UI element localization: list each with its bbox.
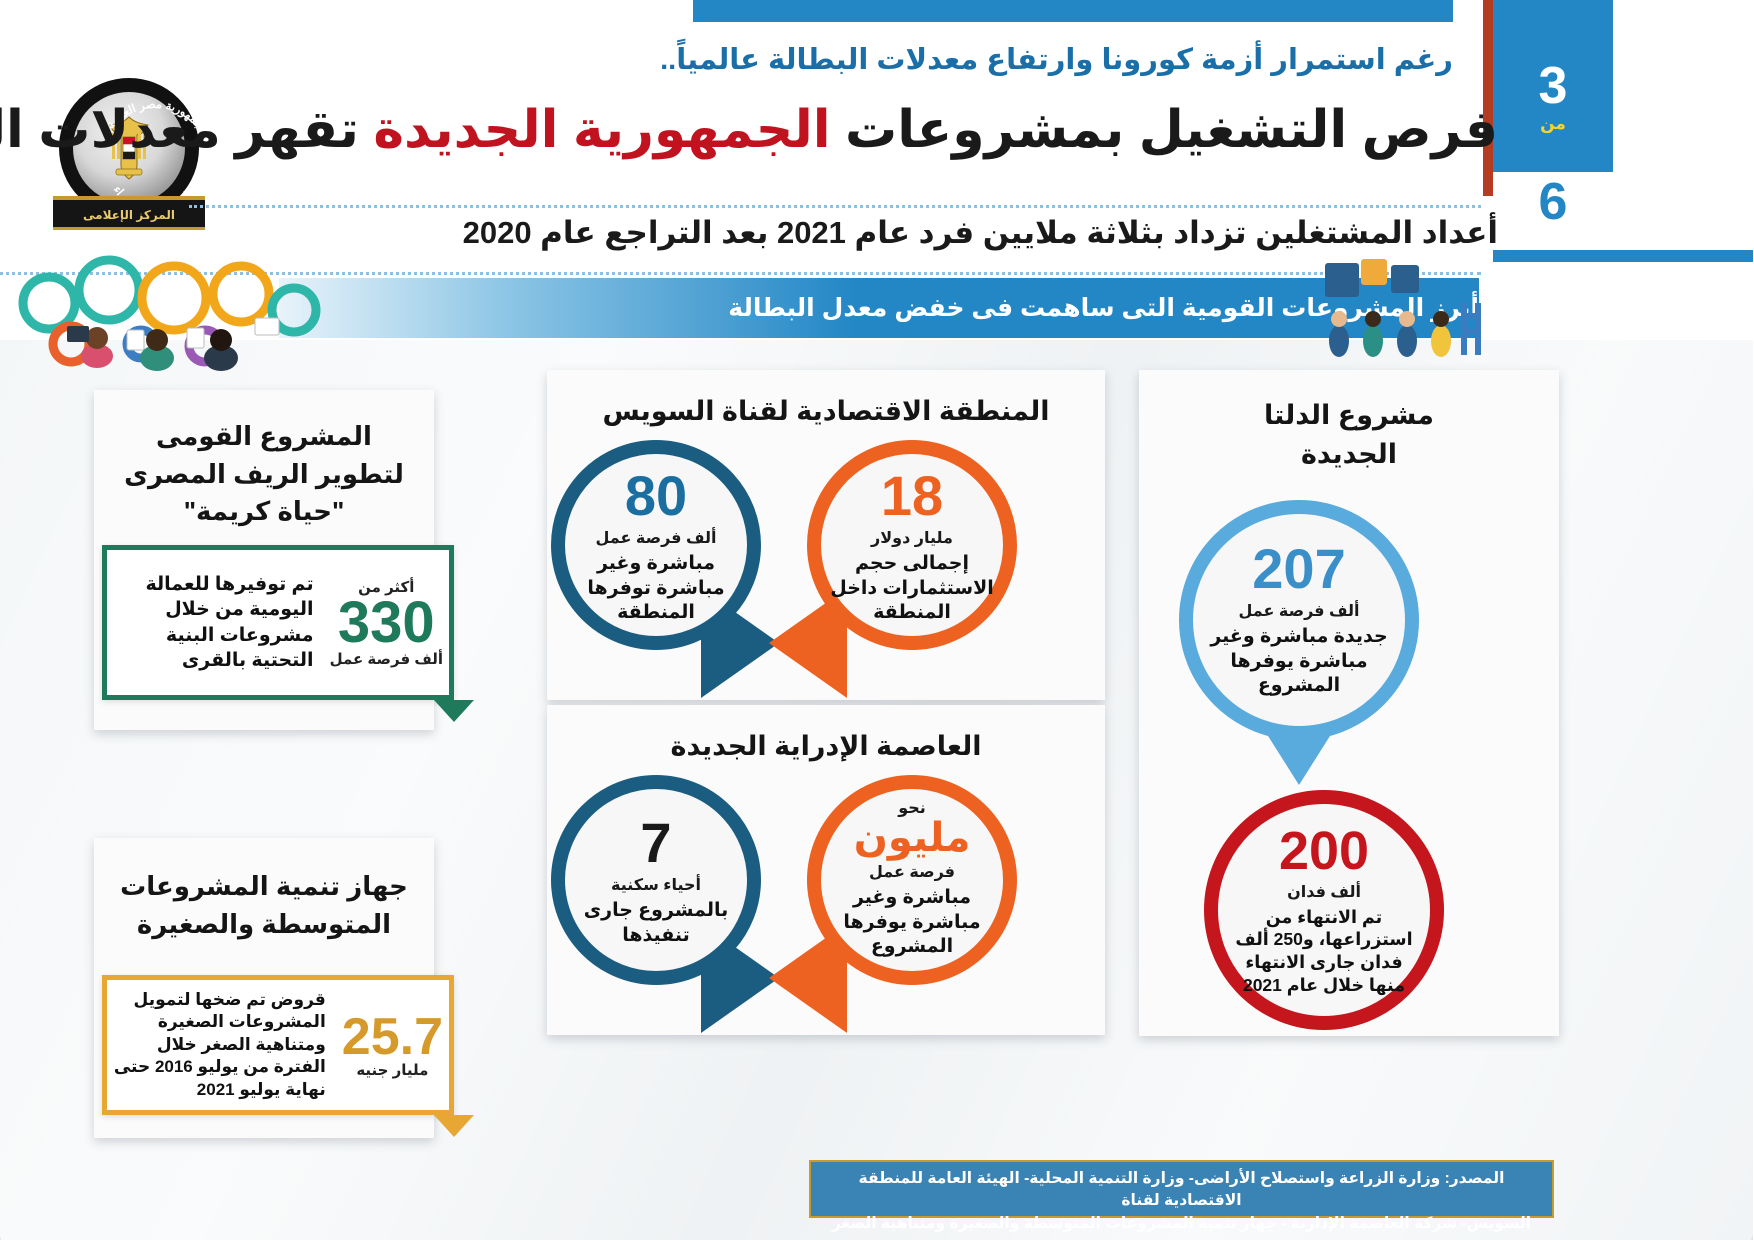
- page-total-number: 6: [1494, 172, 1614, 228]
- stat-description: قروض تم ضخها لتمويل المشروعات الصغيرة وم…: [108, 989, 337, 1101]
- pin-capital-7-districts: 7 أحياء سكنية بالمشروع جارى تنفيذها: [552, 775, 762, 1025]
- pin-note: بالمشروع جارى تنفيذها: [572, 899, 742, 948]
- headline-part-2: تقهر معدلات البطالة: [0, 101, 374, 159]
- pin-value: 80: [626, 468, 688, 524]
- section-banner: أبرز المشروعات القومية التى ساهمت فى خفض…: [280, 278, 1480, 338]
- source-line-2: السويس- شركة العاصمة الإدارية - جهاز تنم…: [822, 1213, 1543, 1235]
- card-title-line-3: "حياة كريمة": [113, 493, 417, 531]
- divider-dotted-1: [190, 205, 1482, 208]
- pin-value: 207: [1253, 541, 1346, 597]
- stat-number-block: أكثر من 330 ألف فرصة عمل: [325, 578, 450, 668]
- pin-unit: ألف فرصة عمل: [1240, 601, 1361, 621]
- pin-delta-207-thousand-jobs: 207 ألف فرصة عمل جديدة مباشرة وغير مباشر…: [1180, 500, 1420, 820]
- pin-content: 80 ألف فرصة عمل مباشرة وغير مباشرة توفره…: [572, 462, 742, 632]
- pin-unit: أحياء سكنية: [612, 875, 702, 895]
- stat-number-block: 25.7 مليار جنيه: [337, 1011, 450, 1079]
- stat-value: 25.7: [343, 1011, 444, 1063]
- pin-note: تم الانتهاء من استزراعها، و250 ألف فدان …: [1229, 906, 1421, 997]
- card-title-line-2: الجديدة: [1162, 435, 1538, 474]
- stat-description: تم توفيرها للعمالة اليومية من خلال مشروع…: [108, 572, 325, 672]
- stat-unit: ألف فرصة عمل: [331, 650, 444, 668]
- top-right-white: [1614, 0, 1754, 250]
- subheadline: أعداد المشتغلين تزداد بثلاثة ملايين فرد …: [284, 215, 1499, 251]
- headline-highlight: الجمهورية الجديدة: [374, 101, 831, 159]
- page-of-label: من: [1494, 114, 1614, 134]
- card-title-line-1: مشروع الدلتا: [1162, 396, 1538, 435]
- page-indicator-total: 6: [1494, 172, 1614, 250]
- pin-note: مباشرة وغير مباشرة توفرها المنطقة: [572, 552, 742, 626]
- pin-content: 7 أحياء سكنية بالمشروع جارى تنفيذها: [572, 797, 742, 967]
- card-title-line-2: لتطوير الريف المصرى: [113, 456, 417, 494]
- pin-value: 18: [882, 468, 944, 524]
- card-msme-title: جهاز تنمية المشروعات المتوسطة والصغيرة: [95, 838, 435, 943]
- infographic-root: 3 من 6: [0, 0, 1754, 1240]
- pin-content: 18 مليار دولار إجمالى حجم الاستثمارات دا…: [828, 462, 998, 632]
- pin-note: جديدة مباشرة وغير مباشرة يوفرها المشروع: [1204, 625, 1396, 699]
- card-title-line-1: جهاز تنمية المشروعات: [109, 868, 421, 906]
- pin-suez-18-billion-usd: 18 مليار دولار إجمالى حجم الاستثمارات دا…: [808, 440, 1018, 690]
- pin-prefix: نحو: [899, 798, 927, 818]
- pin-value: 200: [1280, 824, 1370, 878]
- pin-suez-80-thousand-jobs: 80 ألف فرصة عمل مباشرة وغير مباشرة توفره…: [552, 440, 762, 690]
- card-capital-title: العاصمة الإدراية الجديدة: [548, 705, 1106, 762]
- green-box-tail: [435, 700, 475, 722]
- orange-box-tail: [435, 1115, 475, 1137]
- card-delta-title: مشروع الدلتا الجديدة: [1140, 370, 1560, 474]
- pin-note: مباشرة وغير مباشرة يوفرها المشروع: [828, 886, 998, 960]
- pin-note: إجمالى حجم الاستثمارات داخل المنطقة: [828, 552, 998, 626]
- card-hayah-karima-title: المشروع القومى لتطوير الريف المصرى "حياة…: [95, 390, 435, 531]
- pin-delta-200-thousand-feddan: 200 ألف فدان تم الانتهاء من استزراعها، و…: [1205, 790, 1445, 1040]
- pin-unit: فرصة عمل: [870, 862, 956, 882]
- kicker-text: رغم استمرار أزمة كورونا وارتفاع معدلات ا…: [294, 42, 1454, 77]
- headline-part-1: فرص التشغيل بمشروعات: [832, 101, 1499, 159]
- top-blue-bar: [694, 0, 1454, 22]
- pin-unit: مليار دولار: [872, 528, 954, 548]
- people-puzzle-illustration: [1318, 255, 1488, 360]
- stat-box-25-7-billion-loans: 25.7 مليار جنيه قروض تم ضخها لتمويل المش…: [103, 975, 455, 1115]
- pin-value: مليون: [855, 818, 972, 858]
- card-title-line-1: المشروع القومى: [113, 418, 417, 456]
- top-right-blue-bar: [1494, 250, 1754, 262]
- stat-box-330-thousand-jobs: أكثر من 330 ألف فرصة عمل تم توفيرها للعم…: [103, 545, 455, 700]
- logo-banner-text: المركز الإعلامى: [54, 196, 206, 230]
- pin-capital-one-million-jobs: نحو مليون فرصة عمل مباشرة وغير مباشرة يو…: [808, 775, 1018, 1025]
- page-current-number: 3: [1494, 0, 1614, 112]
- pin-value: 7: [641, 815, 672, 871]
- pin-content: 207 ألف فرصة عمل جديدة مباشرة وغير مباشر…: [1204, 526, 1396, 714]
- pin-content: 200 ألف فدان تم الانتهاء من استزراعها، و…: [1229, 810, 1421, 1010]
- card-title-line-2: المتوسطة والصغيرة: [109, 906, 421, 944]
- pin-content: نحو مليون فرصة عمل مباشرة وغير مباشرة يو…: [828, 789, 998, 969]
- stat-value: 330: [331, 594, 444, 652]
- source-line-1: المصدر: وزارة الزراعة واستصلاح الأراضى- …: [822, 1168, 1543, 1213]
- page-indicator-current: 3 من: [1494, 0, 1614, 172]
- page-title: فرص التشغيل بمشروعات الجمهورية الجديدة ت…: [284, 98, 1499, 163]
- pin-unit: ألف فدان: [1288, 882, 1362, 902]
- source-footnote: المصدر: وزارة الزراعة واستصلاح الأراضى- …: [810, 1160, 1555, 1218]
- stat-unit: مليار جنيه: [343, 1061, 444, 1079]
- gears-people-illustration: [10, 248, 340, 378]
- pin-unit: ألف فرصة عمل: [597, 528, 718, 548]
- card-suez-title: المنطقة الاقتصادية لقناة السويس: [548, 370, 1106, 427]
